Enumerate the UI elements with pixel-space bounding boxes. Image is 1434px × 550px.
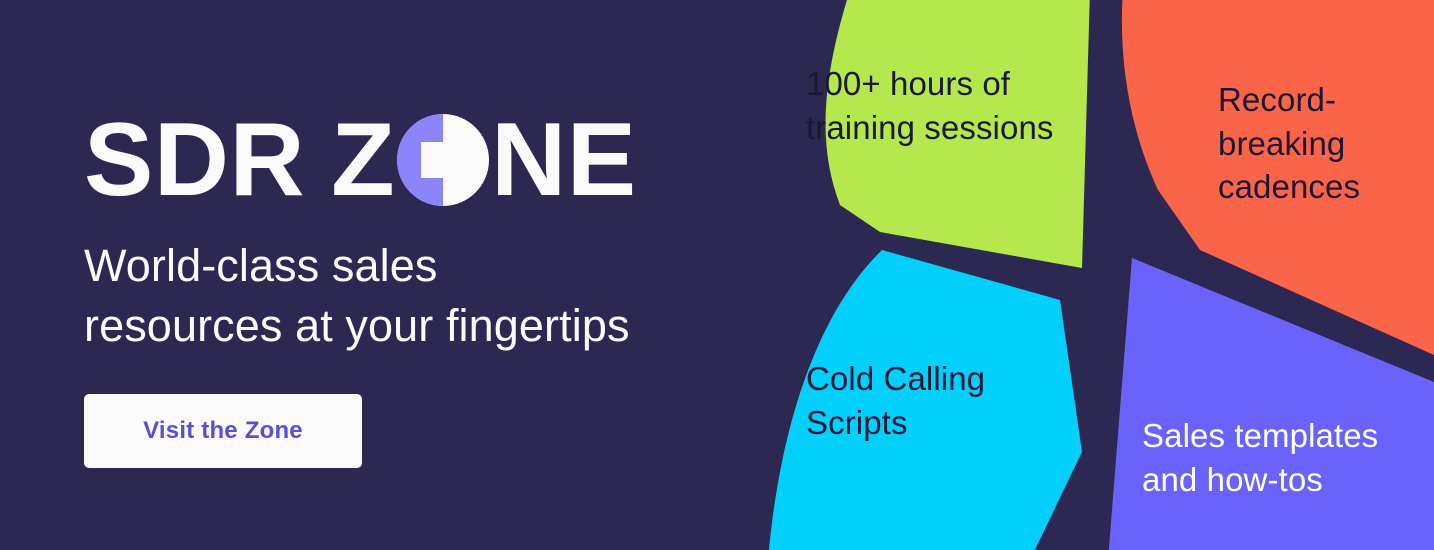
feature-tiles-collage [730, 0, 1434, 550]
tagline-line-1: World-class sales [84, 236, 724, 296]
wordmark-ne: NE [491, 108, 636, 212]
tagline-line-2: resources at your fingertips [84, 296, 724, 356]
brand-wordmark: SDR Z NE [84, 104, 637, 216]
sdr-zone-promo-banner: SDR Z NE World-class sales resources at … [0, 0, 1434, 550]
wordmark-sdr: SDR [84, 108, 305, 212]
split-circle-logo-icon [397, 114, 489, 206]
banner-left-panel: SDR Z NE World-class sales resources at … [0, 0, 740, 550]
wordmark-z: Z [331, 108, 395, 212]
visit-the-zone-button[interactable]: Visit the Zone [84, 394, 362, 468]
hero-tagline: World-class sales resources at your fing… [84, 236, 724, 356]
collage-shapes [730, 0, 1434, 550]
logo-notch-icon [421, 142, 443, 179]
